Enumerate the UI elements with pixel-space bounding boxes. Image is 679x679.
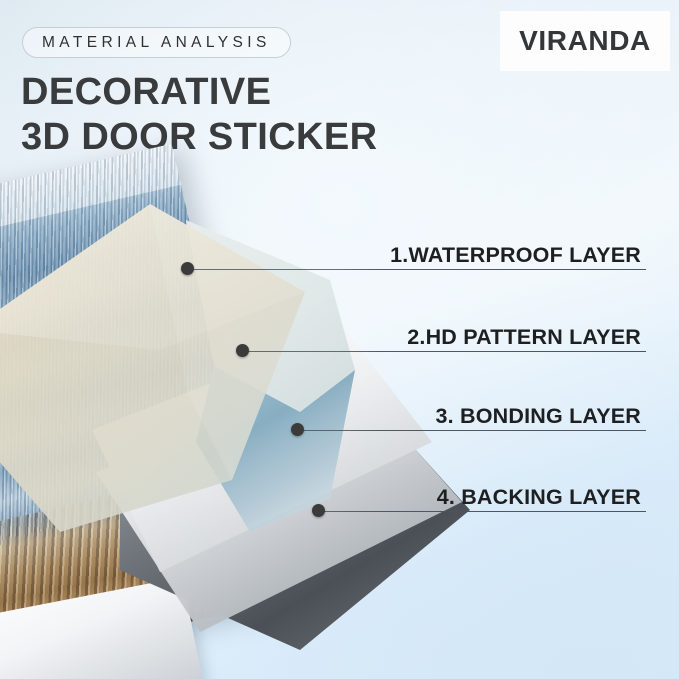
layer-leader-4: [324, 511, 646, 512]
layer-label-2: 2.HD PATTERN LAYER: [407, 325, 641, 350]
layer-leader-1: [193, 269, 646, 270]
brand-name: VIRANDA: [519, 25, 651, 57]
layer-leader-3: [303, 430, 646, 431]
title-line-2: 3D DOOR STICKER: [21, 115, 491, 160]
badge-label: MATERIAL ANALYSIS: [42, 34, 271, 52]
material-analysis-badge: MATERIAL ANALYSIS: [22, 27, 291, 58]
layer-dot-2: [236, 344, 249, 357]
page-title: DECORATIVE 3D DOOR STICKER: [21, 70, 491, 160]
layer-label-4: 4. BACKING LAYER: [437, 485, 641, 510]
layer-label-1: 1.WATERPROOF LAYER: [390, 243, 641, 268]
layer-dot-4: [312, 504, 325, 517]
layer-leader-2: [248, 351, 646, 352]
layer-dot-1: [181, 262, 194, 275]
title-line-1: DECORATIVE: [21, 71, 271, 113]
brand-logo: VIRANDA: [500, 11, 670, 71]
infographic-canvas: MATERIAL ANALYSIS DECORATIVE 3D DOOR STI…: [0, 0, 679, 679]
layer-dot-3: [291, 423, 304, 436]
layer-label-3: 3. BONDING LAYER: [436, 404, 642, 429]
